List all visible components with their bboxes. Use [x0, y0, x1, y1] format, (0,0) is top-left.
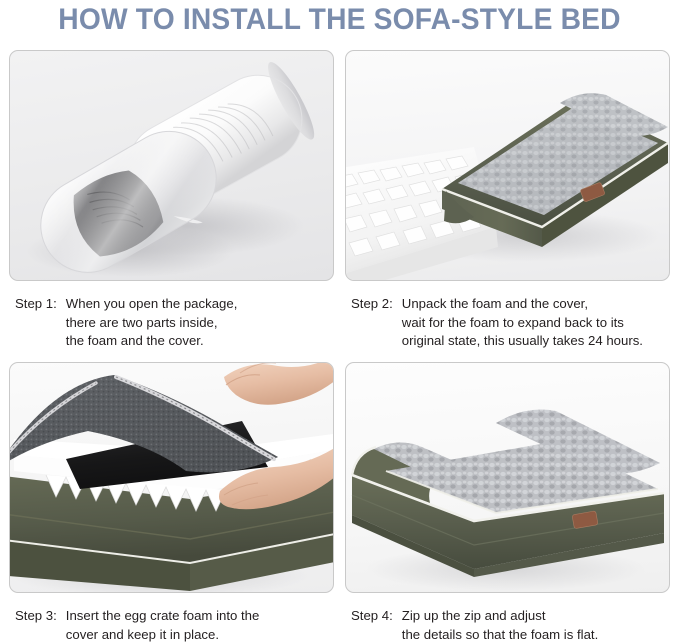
finished-bed-photo	[345, 362, 670, 593]
step-3-label: Step 3:	[9, 607, 66, 626]
step-card-4: Step 4: Zip up the zip and adjust the de…	[345, 362, 674, 644]
packaged-rolls-scene	[10, 51, 333, 280]
finished-bed-scene	[346, 363, 669, 592]
how-to-install-infographic: HOW TO INSTALL THE SOFA-STYLE BED	[0, 0, 679, 644]
hand-upper	[224, 363, 334, 405]
step-card-3: Step 3: Insert the egg crate foam into t…	[9, 362, 338, 644]
inserting-foam-photo	[9, 362, 334, 593]
finished-bed-illustration	[346, 363, 670, 593]
packaged-rolls-illustration	[10, 51, 334, 281]
inserting-foam-scene	[10, 363, 333, 592]
step-2-text: Unpack the foam and the cover, wait for …	[402, 295, 674, 351]
step-3-caption: Step 3: Insert the egg crate foam into t…	[9, 607, 338, 644]
step-card-1: Step 1: When you open the package, there…	[9, 50, 338, 351]
step-3-text: Insert the egg crate foam into the cover…	[66, 607, 338, 644]
step-card-2: Step 2: Unpack the foam and the cover, w…	[345, 50, 674, 351]
sofa-bed	[352, 410, 664, 578]
packaged-rolls-photo	[9, 50, 334, 281]
step-1-caption: Step 1: When you open the package, there…	[9, 295, 338, 351]
step-2-caption: Step 2: Unpack the foam and the cover, w…	[345, 295, 674, 351]
step-4-label: Step 4:	[345, 607, 402, 626]
step-1-text: When you open the package, there are two…	[66, 295, 338, 351]
step-4-text: Zip up the zip and adjust the details so…	[402, 607, 674, 644]
step-1-label: Step 1:	[9, 295, 66, 314]
steps-grid: Step 1: When you open the package, there…	[0, 50, 679, 644]
foam-and-cover-illustration	[346, 51, 670, 281]
insert-foam-illustration	[10, 363, 334, 593]
unpacked-foam-and-cover-scene	[346, 51, 669, 280]
step-4-caption: Step 4: Zip up the zip and adjust the de…	[345, 607, 674, 644]
unpacked-foam-and-cover-photo	[345, 50, 670, 281]
step-2-label: Step 2:	[345, 295, 402, 314]
page-title: HOW TO INSTALL THE SOFA-STYLE BED	[20, 2, 658, 38]
